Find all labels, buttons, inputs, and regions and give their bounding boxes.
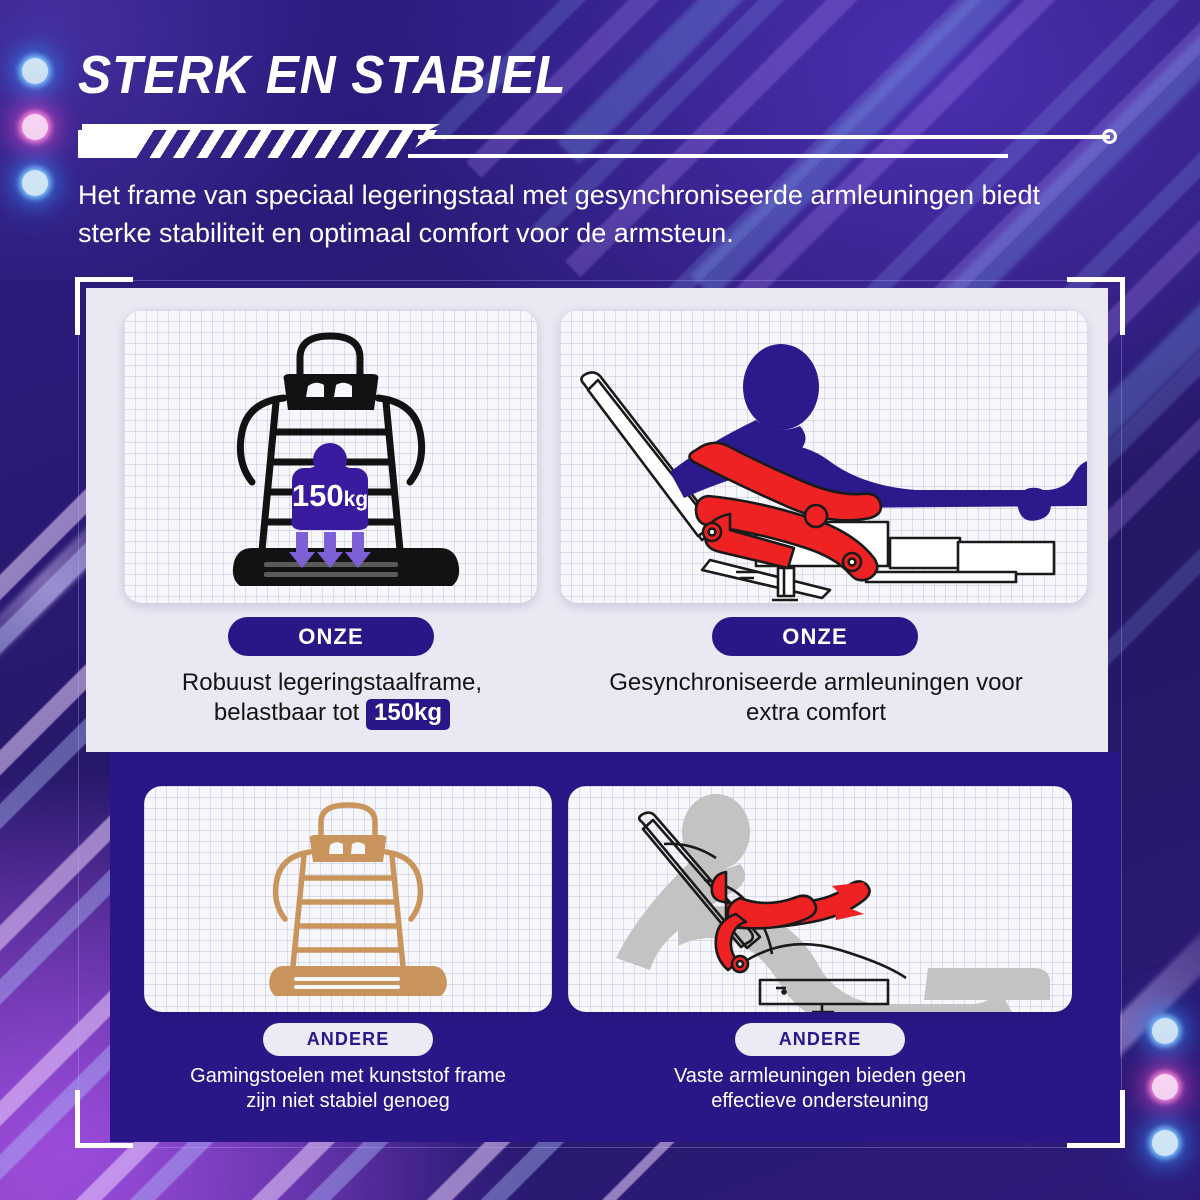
divider-line-lower [408,154,1008,158]
badge-andere-armrest: ANDERE [735,1023,905,1056]
header: STERK EN STABIEL Het frame van speciaal … [78,48,1138,253]
glow-dot-pink-icon [1152,1074,1178,1100]
caption-line-2: extra comfort [570,698,1062,728]
caption-our-frame: Robuust legeringstaalframe, belastbaar t… [138,668,526,730]
glow-dot-blue-icon [22,170,48,196]
page-subtitle: Het frame van speciaal legeringstaal met… [78,176,1118,253]
glow-dots-left [22,58,48,196]
striped-divider [78,124,1113,164]
circle-endpoint-icon [1102,129,1117,144]
divider-line-upper [418,135,1110,139]
badge-onze-frame: ONZE [228,617,434,656]
seat-frame-front-black-illustration: 150kg [124,310,537,603]
glow-dot-blue-icon [22,58,48,84]
caption-line-2: effectieve ondersteuning [570,1089,1070,1114]
divider-top-cap [82,124,440,130]
caption-line-1: Gamingstoelen met kunststof frame [146,1064,550,1089]
caption-line-2-text: belastbaar tot [214,699,366,726]
glow-dot-pink-icon [22,114,48,140]
caption-our-armrest: Gesynchroniseerde armleuningen voor extr… [570,668,1062,728]
badge-andere-frame: ANDERE [263,1023,433,1056]
caption-line-2: zijn niet stabiel genoeg [146,1089,550,1114]
glow-dots-right [1152,1018,1178,1156]
reclining-person-fixed-armrest-warning-illustration [568,786,1072,1012]
caption-line-2: belastbaar tot 150kg [138,698,526,729]
glow-dot-blue-icon [1152,1018,1178,1044]
glow-dot-blue-icon [1152,1130,1178,1156]
page-title: STERK EN STABIEL [78,48,1053,102]
image-card-our-armrest [560,310,1087,603]
weight-chip: 150kg [366,699,450,729]
caption-other-frame: Gamingstoelen met kunststof frame zijn n… [146,1064,550,1114]
person-silhouette [670,344,1087,521]
down-arrow-icon [289,532,371,568]
image-card-other-armrest [568,786,1072,1012]
reclining-person-synchronized-armrest-illustration [560,310,1087,603]
seat-frame-front-plastic-tan-illustration [144,786,552,1012]
caption-line-1: Vaste armleuningen bieden geen [570,1064,1070,1089]
image-card-other-frame [144,786,552,1012]
badge-onze-armrest: ONZE [712,617,918,656]
caption-line-1: Robuust legeringstaalframe, [138,668,526,698]
poster-root: STERK EN STABIEL Het frame van speciaal … [0,0,1200,1200]
image-card-our-frame: 150kg [124,310,537,603]
caption-line-1: Gesynchroniseerde armleuningen voor [570,668,1062,698]
caption-other-armrest: Vaste armleuningen bieden geen effectiev… [570,1064,1070,1114]
